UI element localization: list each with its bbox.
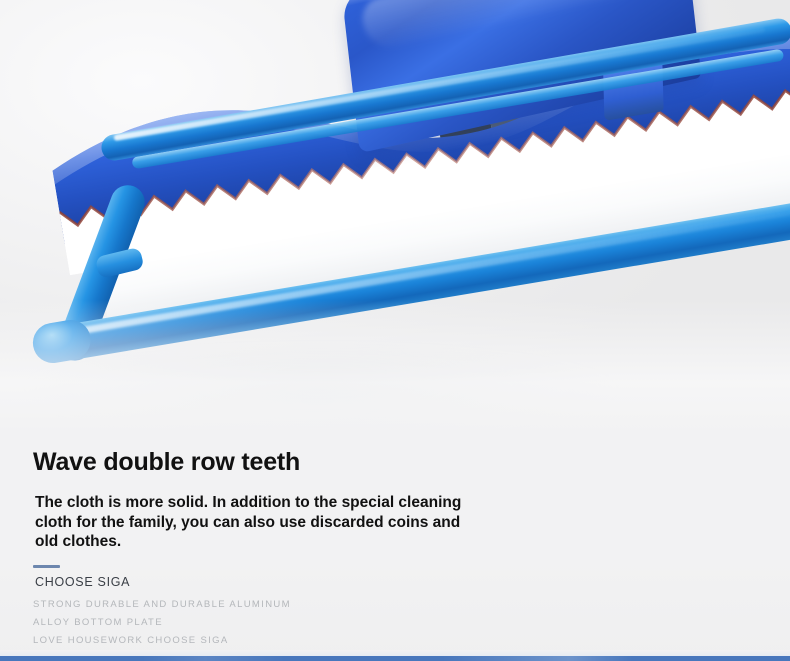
subcopy-paragraph: The cloth is more solid. In addition to … [35, 493, 465, 552]
fineprint-line-1: STRONG DURABLE AND DURABLE ALUMINUM [33, 596, 291, 614]
fineprint-line-3: LOVE HOUSEWORK CHOOSE SIGA [33, 632, 291, 650]
fineprint-block: STRONG DURABLE AND DURABLE ALUMINUM ALLO… [33, 596, 291, 650]
product-marketing-page: Wave double row teeth The cloth is more … [0, 0, 790, 661]
product-photo [0, 0, 790, 450]
accent-dash-divider [33, 565, 60, 568]
photo-fade-overlay [0, 300, 790, 450]
brand-tagline: CHOOSE SIGA [35, 575, 130, 589]
bottom-accent-bar [0, 656, 790, 661]
fineprint-line-2: ALLOY BOTTOM PLATE [33, 614, 291, 632]
headline: Wave double row teeth [33, 448, 300, 477]
marketing-copy-block: Wave double row teeth The cloth is more … [0, 430, 790, 661]
paddle-gloss-highlight [361, 0, 660, 53]
